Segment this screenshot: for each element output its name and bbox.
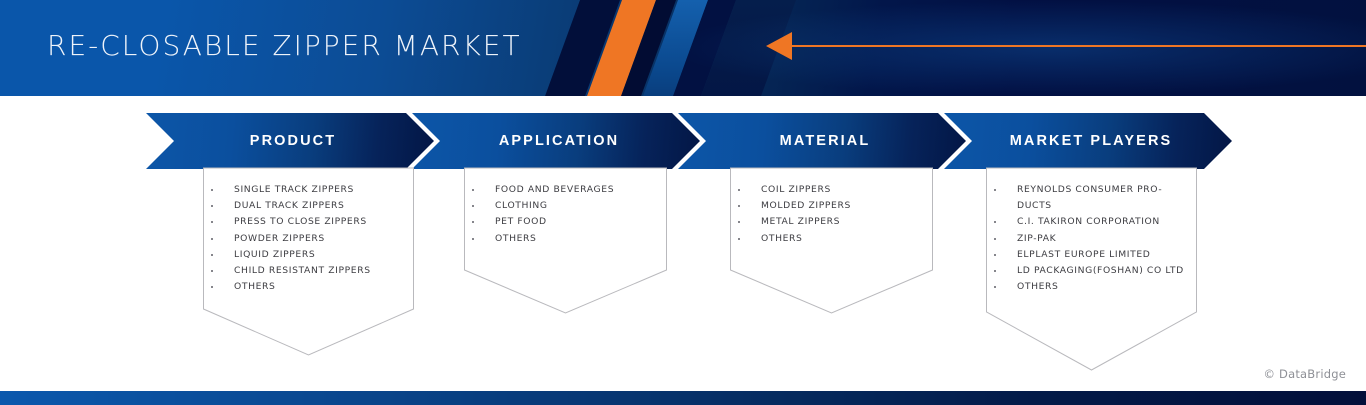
list-item: METAL ZIPPERS — [730, 214, 933, 230]
list-item: C.I. TAKIRON CORPORATION — [986, 214, 1197, 230]
list-item: SINGLE TRACK ZIPPERS — [203, 182, 414, 198]
list-item: ZIP-PAK — [986, 231, 1197, 247]
arrow-line — [791, 45, 1366, 47]
list-item: OTHERS — [730, 231, 933, 247]
list-item: DUAL TRACK ZIPPERS — [203, 198, 414, 214]
list-box-market-players: REYNOLDS CONSUMER PRO-DUCTS C.I. TAKIRON… — [986, 168, 1197, 371]
list-market-players: REYNOLDS CONSUMER PRO-DUCTS C.I. TAKIRON… — [986, 168, 1197, 295]
chevron-header-product: PRODUCT — [146, 113, 434, 169]
left-arrow-icon — [766, 28, 1366, 64]
list-item: FOOD AND BEVERAGES — [464, 182, 667, 198]
copyright-text: © DataBridge — [1263, 367, 1346, 381]
header-banner: RE-CLOSABLE ZIPPER MARKET — [0, 0, 1366, 96]
list-box-material: COIL ZIPPERS MOLDED ZIPPERS METAL ZIPPER… — [730, 168, 933, 314]
list-item: MOLDED ZIPPERS — [730, 198, 933, 214]
list-product: SINGLE TRACK ZIPPERS DUAL TRACK ZIPPERS … — [203, 168, 414, 295]
chevron-label: APPLICATION — [493, 133, 619, 149]
list-item: POWDER ZIPPERS — [203, 231, 414, 247]
list-item: CHILD RESISTANT ZIPPERS — [203, 263, 414, 279]
chevron-label: MATERIAL — [774, 133, 871, 149]
chevron-header-material: MATERIAL — [678, 113, 966, 169]
list-item: LIQUID ZIPPERS — [203, 247, 414, 263]
list-item: OTHERS — [464, 231, 667, 247]
chevron-label: MARKET PLAYERS — [1004, 133, 1173, 149]
list-item: PRESS TO CLOSE ZIPPERS — [203, 214, 414, 230]
list-box-product: SINGLE TRACK ZIPPERS DUAL TRACK ZIPPERS … — [203, 168, 414, 356]
page-title: RE-CLOSABLE ZIPPER MARKET — [47, 29, 522, 62]
list-box-application: FOOD AND BEVERAGES CLOTHING PET FOOD OTH… — [464, 168, 667, 314]
list-item: COIL ZIPPERS — [730, 182, 933, 198]
chevron-header-application: APPLICATION — [412, 113, 700, 169]
list-material: COIL ZIPPERS MOLDED ZIPPERS METAL ZIPPER… — [730, 168, 933, 247]
chevron-header-market-players: MARKET PLAYERS — [944, 113, 1232, 169]
arrow-head — [766, 32, 792, 60]
chevron-label: PRODUCT — [244, 133, 336, 149]
list-item: PET FOOD — [464, 214, 667, 230]
list-item: ELPLAST EUROPE LIMITED — [986, 247, 1197, 263]
list-application: FOOD AND BEVERAGES CLOTHING PET FOOD OTH… — [464, 168, 667, 247]
footer-bar — [0, 391, 1366, 405]
list-item: REYNOLDS CONSUMER PRO-DUCTS — [986, 182, 1197, 214]
list-item: CLOTHING — [464, 198, 667, 214]
list-item: OTHERS — [986, 279, 1197, 295]
list-item: LD PACKAGING(FOSHAN) CO LTD — [986, 263, 1197, 279]
list-item: OTHERS — [203, 279, 414, 295]
